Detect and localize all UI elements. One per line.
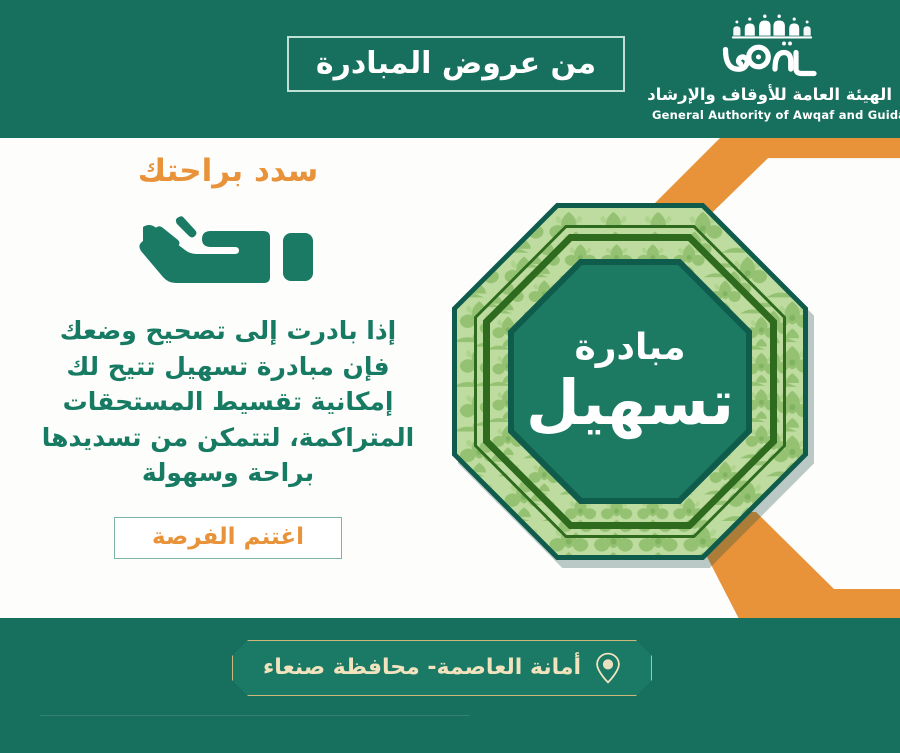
logo-english-name: General Authority of Awqaf and Guidance xyxy=(652,108,892,122)
poster-canvas: الهيئة العامة للأوقاف والإرشاد General A… xyxy=(0,0,900,753)
header-title: من عروض المبادرة xyxy=(316,49,596,79)
kicker-text: سدد براحتك xyxy=(18,156,438,187)
authority-logo: الهيئة العامة للأوقاف والإرشاد General A… xyxy=(652,14,892,122)
cta-button[interactable]: اغتنم الفرصة xyxy=(114,517,342,559)
cta-label: اغتنم الفرصة xyxy=(152,526,304,549)
offer-content-column: سدد براحتك إذا بادرت إلى تصحيح وضعك فإن … xyxy=(18,148,438,603)
hand-icon-wrap xyxy=(18,203,438,289)
badge-label-large: تسهيل xyxy=(526,370,734,435)
badge-core: مبادرة تسهيل xyxy=(514,265,746,498)
location-chip: أمانة العاصمة- محافظة صنعاء xyxy=(232,640,652,696)
ornamental-crown-icon xyxy=(729,14,815,40)
location-pin-icon xyxy=(595,652,621,684)
logo-arabic-name: الهيئة العامة للأوقاف والإرشاد xyxy=(652,85,892,106)
open-hand-icon xyxy=(135,205,321,287)
location-label: أمانة العاصمة- محافظة صنعاء xyxy=(263,657,581,679)
footer-divider xyxy=(40,715,470,716)
badge-label-small: مبادرة xyxy=(575,328,686,368)
initiative-badge: مبادرة تسهيل xyxy=(452,203,808,560)
footer-band: أمانة العاصمة- محافظة صنعاء xyxy=(0,618,900,753)
header-title-box: من عروض المبادرة xyxy=(287,36,625,92)
waqf-wordmark-icon xyxy=(712,38,832,82)
offer-body-text: إذا بادرت إلى تصحيح وضعك فإن مبادرة تسهي… xyxy=(18,313,438,491)
